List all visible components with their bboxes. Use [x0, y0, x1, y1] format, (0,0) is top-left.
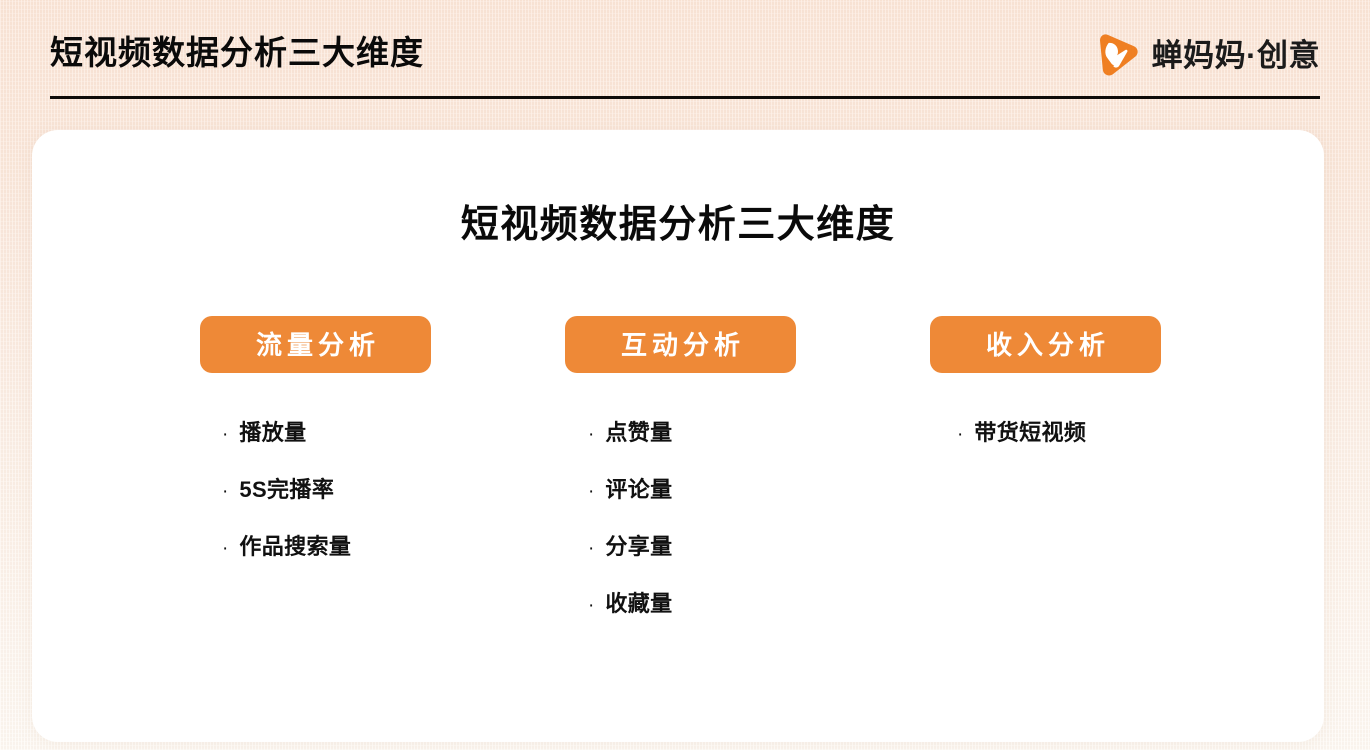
- pill-label: 互动分析: [616, 332, 745, 358]
- list-item-label: 分享量: [605, 518, 672, 575]
- metric-list-revenue: · 带货短视频: [957, 404, 1086, 461]
- pill-revenue-analysis[interactable]: 收入分析: [930, 316, 1161, 373]
- card-title: 短视频数据分析三大维度: [32, 206, 1324, 244]
- dimension-columns: 流量分析 · 播放量 · 5S完播率 · 作品搜索量 互动分析: [200, 316, 1224, 632]
- bullet-dot-icon: ·: [588, 463, 594, 520]
- bullet-dot-icon: ·: [222, 463, 228, 520]
- header-divider: [50, 96, 1320, 99]
- list-item-label: 作品搜索量: [239, 518, 351, 575]
- list-item-label: 播放量: [239, 404, 306, 461]
- list-item: · 分享量: [588, 518, 673, 575]
- list-item-label: 5S完播率: [239, 461, 334, 518]
- list-item: · 评论量: [588, 461, 673, 518]
- list-item: · 播放量: [222, 404, 351, 461]
- list-item: · 点赞量: [588, 404, 673, 461]
- brand-name: 蝉妈妈·创意: [1152, 40, 1320, 71]
- list-item: · 带货短视频: [957, 404, 1086, 461]
- pill-interaction-analysis[interactable]: 互动分析: [565, 316, 796, 373]
- dimension-column-revenue: 收入分析 · 带货短视频: [930, 316, 1224, 461]
- bullet-dot-icon: ·: [222, 520, 228, 577]
- list-item-label: 收藏量: [605, 575, 672, 632]
- bullet-dot-icon: ·: [588, 577, 594, 634]
- metric-list-traffic: · 播放量 · 5S完播率 · 作品搜索量: [222, 404, 351, 575]
- list-item: · 作品搜索量: [222, 518, 351, 575]
- list-item-label: 带货短视频: [974, 404, 1086, 461]
- content-card: 短视频数据分析三大维度 流量分析 · 播放量 · 5S完播率 · 作品搜索量: [32, 130, 1324, 742]
- pill-label: 收入分析: [981, 332, 1110, 358]
- brand-logo: 蝉妈妈·创意: [1092, 28, 1320, 82]
- list-item-label: 点赞量: [605, 404, 672, 461]
- list-item-label: 评论量: [605, 461, 672, 518]
- dimension-column-traffic: 流量分析 · 播放量 · 5S完播率 · 作品搜索量: [200, 316, 565, 575]
- list-item: · 5S完播率: [222, 461, 351, 518]
- dimension-column-interaction: 互动分析 · 点赞量 · 评论量 · 分享量 · 收藏量: [565, 316, 930, 632]
- list-item: · 收藏量: [588, 575, 673, 632]
- bullet-dot-icon: ·: [588, 406, 594, 463]
- pill-traffic-analysis[interactable]: 流量分析: [200, 316, 431, 373]
- page-title: 短视频数据分析三大维度: [50, 36, 424, 69]
- cicada-logo-icon: [1092, 30, 1142, 80]
- page-header: 短视频数据分析三大维度 蝉妈妈·创意: [0, 0, 1370, 104]
- metric-list-interaction: · 点赞量 · 评论量 · 分享量 · 收藏量: [588, 404, 673, 632]
- bullet-dot-icon: ·: [957, 406, 963, 463]
- bullet-dot-icon: ·: [588, 520, 594, 577]
- pill-label: 流量分析: [251, 332, 380, 358]
- bullet-dot-icon: ·: [222, 406, 228, 463]
